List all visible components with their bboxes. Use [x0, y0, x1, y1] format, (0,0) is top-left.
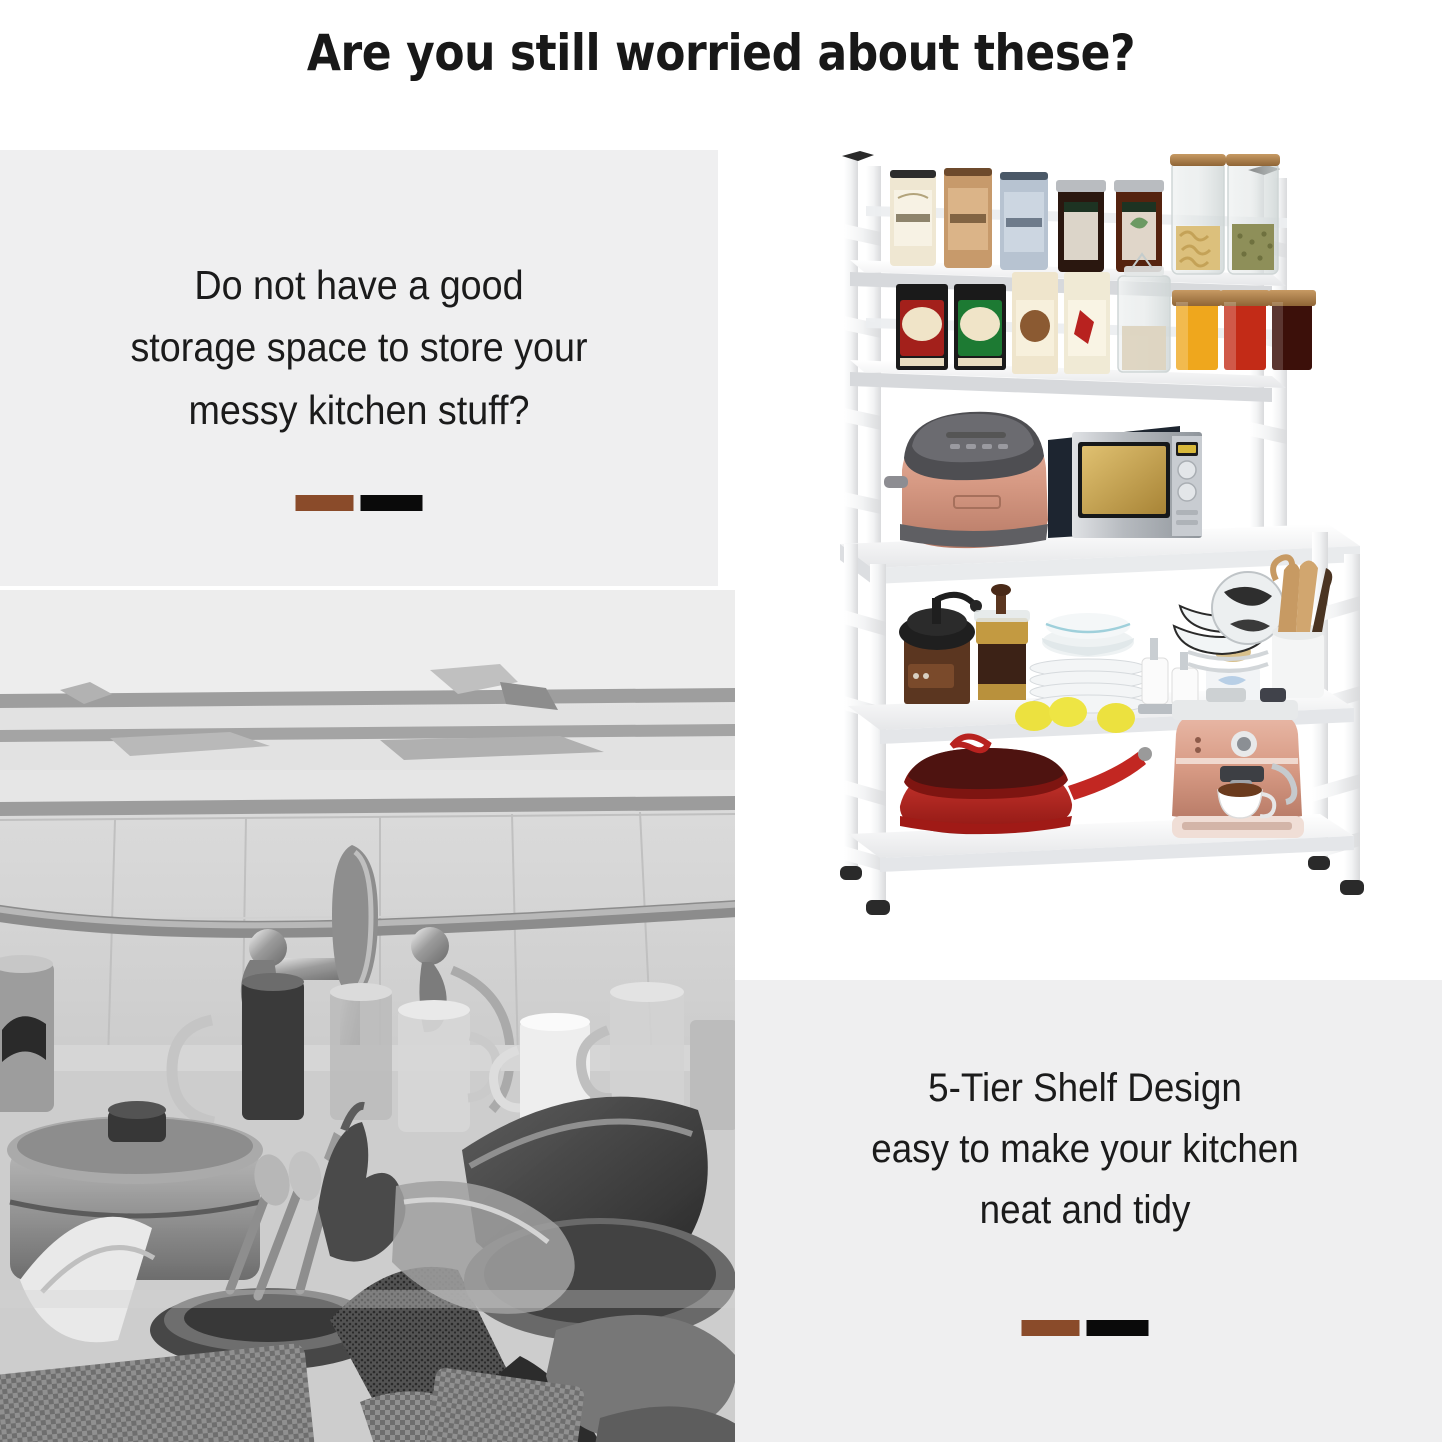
- divider-left: [296, 495, 423, 511]
- problem-line-2: storage space to store your: [29, 316, 690, 378]
- feature-line-2: easy to make your kitchen: [757, 1119, 1414, 1180]
- divider-bar-brown: [1022, 1320, 1080, 1336]
- problem-line-3: messy kitchen stuff?: [29, 379, 690, 441]
- divider-right: [1022, 1320, 1149, 1336]
- divider-bar-black: [361, 495, 423, 511]
- divider-bar-brown: [296, 495, 354, 511]
- problem-statement-text: Do not have a good storage space to stor…: [29, 254, 690, 441]
- messy-kitchen-photo: [0, 590, 735, 1442]
- page-title: Are you still worried about these?: [87, 24, 1356, 82]
- feature-statement-text: 5-Tier Shelf Design easy to make your ki…: [757, 1058, 1414, 1240]
- feature-line-1: 5-Tier Shelf Design: [757, 1058, 1414, 1119]
- problem-statement-panel: Do not have a good storage space to stor…: [0, 150, 718, 586]
- problem-line-1: Do not have a good: [29, 254, 690, 316]
- shelf-product-image: [820, 140, 1380, 980]
- divider-bar-black: [1087, 1320, 1149, 1336]
- feature-line-3: neat and tidy: [757, 1180, 1414, 1241]
- feature-statement-panel: 5-Tier Shelf Design easy to make your ki…: [728, 980, 1442, 1442]
